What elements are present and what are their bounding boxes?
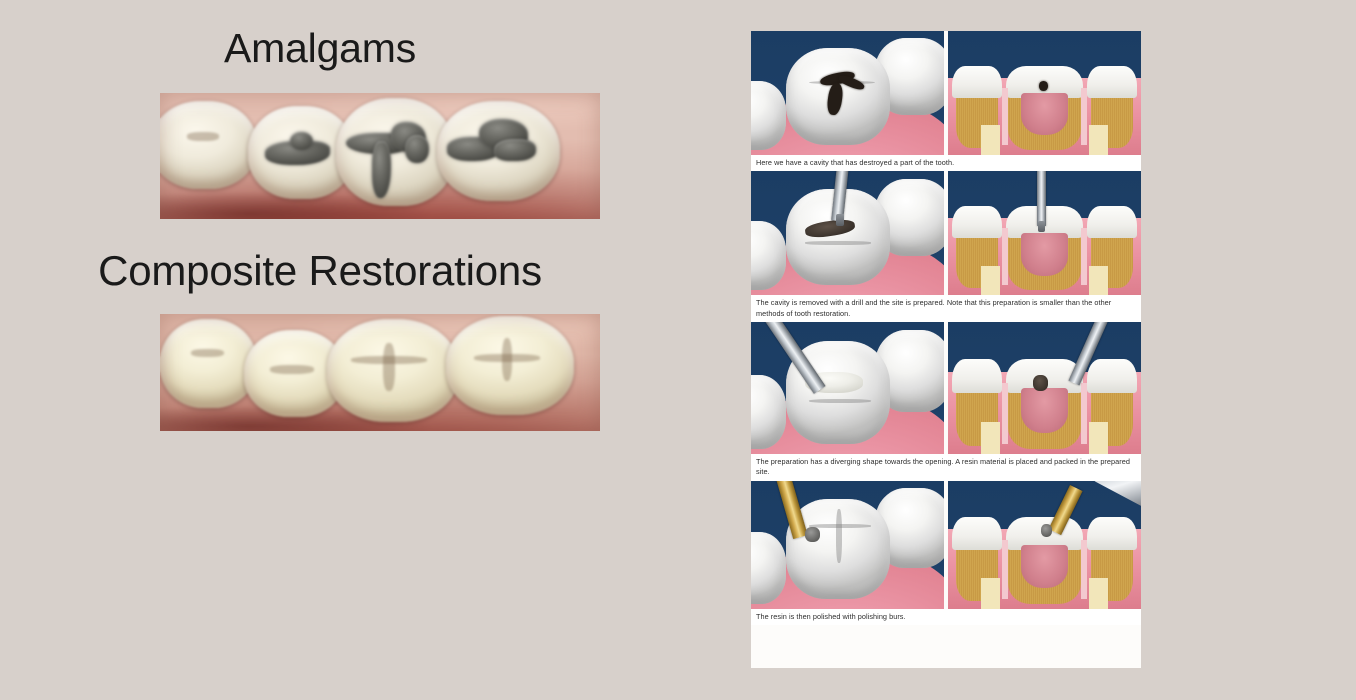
composite-procedure-panel: Here we have a cavity that has destroyed…: [751, 31, 1141, 668]
cavity-preparation: [1033, 375, 1048, 391]
procedure-step: Here we have a cavity that has destroyed…: [751, 31, 1141, 171]
tooth-molar-with-composite: [446, 316, 574, 414]
cross-section-view-cavity: [948, 31, 1141, 155]
periodontal-ligament: [1081, 228, 1087, 285]
procedure-step: The cavity is removed with a drill and t…: [751, 171, 1141, 322]
cross-section-view-polishing: [948, 481, 1141, 609]
tooth-molar-with-amalgam: [437, 101, 560, 202]
dental-drill-shaft: [1037, 171, 1047, 226]
amalgam-filling: [494, 139, 536, 161]
alveolar-bone: [981, 266, 1000, 296]
procedure-step-caption: The preparation has a diverging shape to…: [751, 454, 1141, 481]
alveolar-bone: [981, 422, 1000, 454]
procedure-step: The resin is then polished with polishin…: [751, 481, 1141, 625]
periodontal-ligament: [1002, 540, 1008, 599]
occlusal-fissure: [383, 343, 395, 390]
occlusal-view-drilling: [751, 171, 944, 295]
occlusal-fissure: [270, 365, 315, 374]
occlusal-groove: [836, 509, 842, 563]
pulp-chamber: [1021, 545, 1067, 589]
alveolar-bone: [981, 125, 1000, 155]
adjacent-tooth-crown: [1087, 359, 1137, 393]
occlusal-groove: [805, 241, 871, 245]
procedure-step-caption: Here we have a cavity that has destroyed…: [751, 155, 1141, 171]
tooth-molar-with-composite: [327, 319, 459, 422]
alveolar-bone: [1089, 578, 1108, 609]
adjacent-tooth-crown: [952, 359, 1002, 393]
dental-drill-tip: [1038, 221, 1046, 232]
composite-restorations-photo: [160, 314, 600, 431]
adjacent-tooth-crown: [952, 66, 1002, 98]
occlusal-fissure: [187, 132, 219, 141]
procedure-step-caption: The resin is then polished with polishin…: [751, 609, 1141, 625]
periodontal-ligament: [1002, 228, 1008, 285]
periodontal-ligament: [1081, 383, 1087, 444]
alveolar-bone: [1089, 422, 1108, 454]
procedure-step-images: [751, 171, 1141, 295]
periodontal-ligament: [1081, 540, 1087, 599]
cross-section-view-drilling: [948, 171, 1141, 295]
amalgam-filling: [405, 135, 429, 163]
dental-drill-tip: [836, 214, 844, 226]
occlusal-view-polishing: [751, 481, 944, 609]
adjacent-tooth-crown: [1087, 206, 1137, 238]
heading-composite-restorations: Composite Restorations: [20, 250, 620, 292]
alveolar-bone: [981, 578, 1000, 609]
pulp-chamber: [1021, 388, 1067, 433]
amalgam-restorations-photo: [160, 93, 600, 219]
occlusal-view-cavity: [751, 31, 944, 155]
periodontal-ligament: [1002, 88, 1008, 145]
pulp-chamber: [1021, 233, 1067, 275]
adjacent-tooth-crown: [952, 517, 1002, 550]
procedure-step: The preparation has a diverging shape to…: [751, 322, 1141, 481]
procedure-step-images: [751, 31, 1141, 155]
tooth-premolar: [160, 319, 257, 408]
adjacent-tooth-crown: [1087, 66, 1137, 98]
polishing-bur-head: [1041, 524, 1053, 537]
heading-amalgams: Amalgams: [20, 28, 620, 69]
procedure-step-images: [751, 481, 1141, 609]
adjacent-tooth-crown: [1087, 517, 1137, 550]
procedure-step-images: [751, 322, 1141, 454]
adjacent-tooth: [751, 532, 786, 604]
adjacent-tooth-crown: [952, 206, 1002, 238]
occlusal-view-resin-placement: [751, 322, 944, 454]
amalgam-filling: [372, 141, 391, 197]
pulp-chamber: [1021, 93, 1067, 135]
periodontal-ligament: [1081, 88, 1087, 145]
periodontal-ligament: [1002, 383, 1008, 444]
occlusal-groove: [809, 399, 871, 403]
occlusal-fissure: [191, 349, 224, 357]
left-content-column: Amalgams Composite Restorations: [0, 0, 740, 700]
alveolar-bone: [1089, 125, 1108, 155]
procedure-step-caption: The cavity is removed with a drill and t…: [751, 295, 1141, 322]
alveolar-bone: [1089, 266, 1108, 296]
cross-section-view-resin-placement: [948, 322, 1141, 454]
polishing-bur-head: [805, 527, 820, 542]
cavity-lesion: [1039, 81, 1049, 91]
tooth-premolar: [160, 101, 257, 189]
occlusal-fissure: [502, 338, 512, 381]
